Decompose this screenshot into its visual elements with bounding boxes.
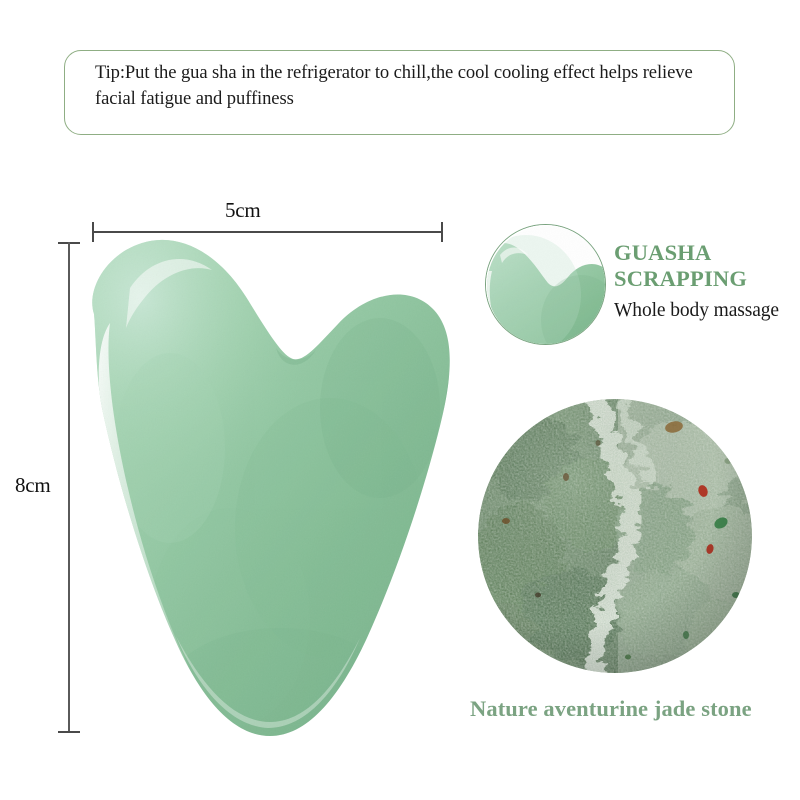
width-dimension-label: 5cm xyxy=(225,198,261,223)
stone-caption: Nature aventurine jade stone xyxy=(470,696,752,722)
height-dimension-cap-bottom xyxy=(58,731,80,733)
height-dimension-line xyxy=(68,242,70,733)
product-infographic-page: Tip:Put the gua sha in the refrigerator … xyxy=(0,0,800,800)
aventurine-stone-circle xyxy=(478,399,752,673)
guasha-scrapping-heading: GUASHA SCRAPPING xyxy=(614,240,747,292)
tip-text: Tip:Put the gua sha in the refrigerator … xyxy=(95,60,715,112)
guasha-subtitle: Whole body massage xyxy=(614,300,779,322)
guasha-heading-line1: GUASHA xyxy=(614,240,711,265)
gua-sha-detail-circle xyxy=(485,224,606,345)
guasha-heading-line2: SCRAPPING xyxy=(614,266,747,291)
tip-callout-box: Tip:Put the gua sha in the refrigerator … xyxy=(64,50,735,135)
height-dimension-label: 8cm xyxy=(15,473,51,498)
gua-sha-product-image xyxy=(80,228,460,748)
